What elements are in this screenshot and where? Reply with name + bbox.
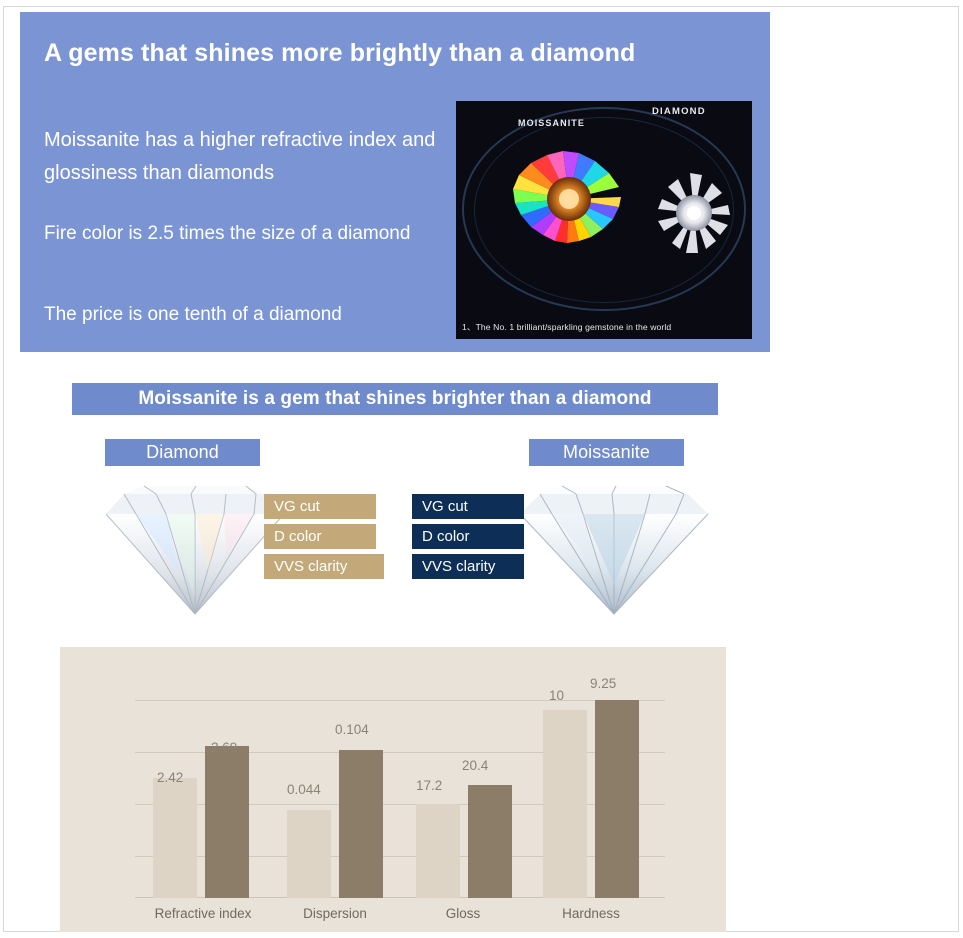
bar-value-hardness-moissanite: 9.25	[590, 676, 616, 691]
spec-row-clarity: VVS clarity	[412, 554, 524, 579]
moissanite-gem-illustration	[512, 480, 717, 620]
spec-color-label: D color	[422, 528, 470, 545]
bar-value-gloss-diamond: 17.2	[416, 778, 442, 793]
tag-moissanite-label: Moissanite	[563, 442, 650, 463]
bar-dispersion-diamond	[287, 810, 331, 898]
bar-refractive-index-moissanite	[205, 746, 249, 898]
banner-title: A gems that shines more brightly than a …	[44, 39, 635, 68]
chart-category-label: Dispersion	[275, 906, 395, 921]
bar-value-refractive-index-diamond: 2.42	[157, 770, 183, 785]
spec-row-clarity: VVS clarity	[264, 554, 384, 579]
page-border-top	[3, 6, 959, 7]
page-canvas: A gems that shines more brightly than a …	[0, 0, 963, 938]
spec-color-label: D color	[274, 528, 322, 545]
photo-label-moissanite: MOISSANITE	[518, 118, 585, 128]
chart-gridline	[135, 700, 665, 701]
spec-row-color: D color	[412, 524, 524, 549]
spec-clarity-label: VVS clarity	[274, 558, 347, 575]
spec-clarity-label: VVS clarity	[422, 558, 495, 575]
spec-cut-label: VG cut	[422, 498, 468, 515]
bar-value-gloss-moissanite: 20.4	[462, 758, 488, 773]
page-border-left	[3, 6, 4, 932]
diamond-white-burst-icon	[632, 153, 752, 283]
spec-row-cut: VG cut	[412, 494, 524, 519]
bar-value-dispersion-moissanite: 0.104	[335, 722, 369, 737]
section-heading-strip: Moissanite is a gem that shines brighter…	[72, 383, 718, 415]
sparkle-comparison-photo: MOISSANITE DIAMOND 1、The No. 1 brilliant…	[456, 101, 752, 339]
bar-refractive-index-diamond	[153, 778, 197, 898]
bar-dispersion-moissanite	[339, 750, 383, 898]
bar-value-refractive-index-moissanite: 2.69	[211, 740, 237, 755]
spec-cut-label: VG cut	[274, 498, 320, 515]
tag-moissanite: Moissanite	[529, 439, 684, 466]
banner-paragraph-1: Moissanite has a higher refractive index…	[44, 124, 464, 190]
tag-diamond: Diamond	[105, 439, 260, 466]
bar-value-hardness-diamond: 10	[549, 688, 564, 703]
spec-list-diamond: VG cut D color VVS clarity	[264, 494, 376, 584]
banner-paragraph-3: The price is one tenth of a diamond	[44, 301, 474, 329]
bar-hardness-moissanite	[595, 700, 639, 898]
banner-paragraph-2: Fire color is 2.5 times the size of a di…	[44, 218, 464, 250]
comparison-bar-chart: 2.42 2.69 0.044 0.104 17.2 20.4 10 9.25 …	[135, 670, 665, 898]
photo-caption: 1、The No. 1 brilliant/sparkling gemstone…	[462, 321, 671, 333]
chart-category-label: Refractive index	[143, 906, 263, 921]
spec-list-moissanite: VG cut D color VVS clarity	[412, 494, 524, 584]
tag-diamond-label: Diamond	[146, 442, 219, 463]
bar-value-dispersion-diamond: 0.044	[287, 782, 321, 797]
chart-category-label: Gloss	[403, 906, 523, 921]
section-heading-text: Moissanite is a gem that shines brighter…	[138, 388, 651, 410]
bar-gloss-moissanite	[468, 785, 512, 898]
photo-label-diamond: DIAMOND	[652, 106, 706, 117]
bar-gloss-diamond	[416, 804, 460, 898]
bar-hardness-diamond	[543, 710, 587, 898]
chart-category-label: Hardness	[531, 906, 651, 921]
spec-row-color: D color	[264, 524, 376, 549]
page-border-right	[958, 6, 959, 932]
spec-row-cut: VG cut	[264, 494, 376, 519]
